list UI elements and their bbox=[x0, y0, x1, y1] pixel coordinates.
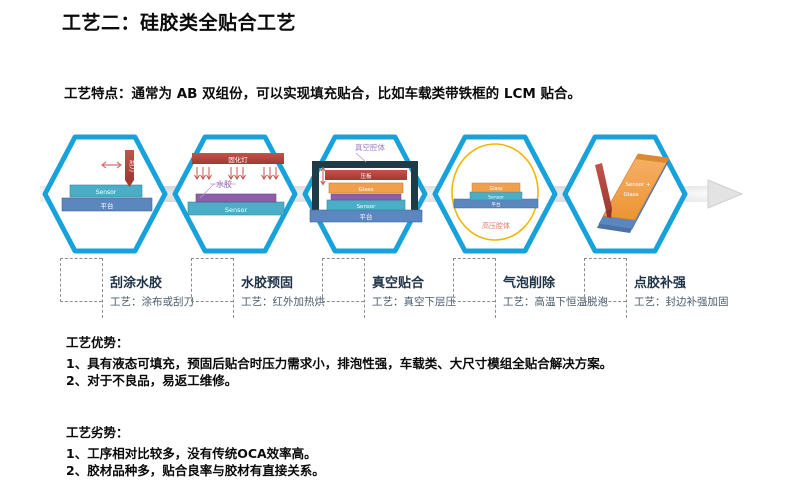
callout-dash-frame bbox=[453, 258, 495, 302]
advantages-line-1: 1、具有液态可填充，预固后贴合时压力需求小，排泡性强，车载类、大尺寸模组全贴合解… bbox=[66, 355, 612, 372]
label-press-plate: 压板 bbox=[360, 172, 372, 180]
label-panel-sensor: Sensor + bbox=[625, 182, 651, 188]
callout-dash-frame bbox=[584, 258, 626, 302]
advantages-block: 工艺优势： 1、具有液态可填充，预固后贴合时压力需求小，排泡性强，车载类、大尺寸… bbox=[66, 332, 612, 389]
callout-dash-frame bbox=[60, 258, 102, 302]
callout-subtitle: 工艺：真空下层压 bbox=[372, 294, 456, 309]
callout-title: 刮涂水胶 bbox=[110, 272, 162, 291]
label-sensor-1: Sensor bbox=[96, 189, 117, 196]
callout-dash-frame bbox=[322, 258, 364, 302]
callout-title: 水胶预固 bbox=[241, 272, 293, 291]
label-glass-4: Glass bbox=[490, 186, 503, 192]
callout-subtitle: 工艺：红外加热烘 bbox=[241, 294, 325, 309]
label-blade-1: 刮刀 bbox=[128, 160, 136, 172]
label-sensor-4: Sensor bbox=[488, 195, 504, 201]
label-curing-lamp: 固化灯 bbox=[228, 155, 248, 164]
callout-title: 真空贴合 bbox=[372, 272, 424, 291]
label-sensor-3: Sensor bbox=[357, 204, 377, 210]
callout-title: 点胶补强 bbox=[634, 272, 686, 291]
label-platform-4: 平台 bbox=[491, 201, 501, 208]
callout-dash-line bbox=[233, 258, 234, 318]
label-high-pressure-chamber: 高压腔体 bbox=[482, 221, 510, 230]
flow-step-2-glue-precure[interactable]: Sensor 固化灯 水胶 bbox=[175, 137, 295, 251]
callout-dash-line bbox=[626, 258, 627, 318]
flow-step-3-vacuum-bonding[interactable]: 平台 Sensor Glass 压板 真空腔体 bbox=[305, 137, 425, 251]
callout-subtitle: 工艺：封边补强加固 bbox=[634, 294, 729, 309]
label-glass-3: Glass bbox=[359, 187, 374, 193]
advantages-line-2: 2、对于不良品，易返工维修。 bbox=[66, 372, 612, 389]
label-platform-1: 平台 bbox=[101, 201, 114, 210]
slide-page: 工艺二：硅胶类全贴合工艺 工艺特点：通常为 AB 双组份，可以实现填充贴合，比如… bbox=[0, 0, 792, 502]
callout-subtitle: 工艺：涂布或刮刀 bbox=[110, 294, 194, 309]
label-sensor-2: Sensor bbox=[225, 206, 248, 214]
process-feature-subtitle: 工艺特点：通常为 AB 双组份，可以实现填充贴合，比如车载类带铁框的 LCM 贴… bbox=[64, 82, 581, 102]
callout-step-2[interactable]: 水胶预固 工艺：红外加热烘 bbox=[191, 258, 321, 318]
page-title: 工艺二：硅胶类全贴合工艺 bbox=[62, 8, 296, 35]
label-platform-3: 平台 bbox=[360, 212, 373, 221]
disadvantages-block: 工艺劣势： 1、工序相对比较多，没有传统OCA效率高。 2、胶材品种多，贴合良率… bbox=[66, 422, 325, 479]
callout-step-4[interactable]: 气泡削除 工艺：高温下恒温脱泡 bbox=[453, 258, 603, 318]
label-vacuum-chamber: 真空腔体 bbox=[355, 142, 385, 152]
disadvantages-heading: 工艺劣势： bbox=[66, 422, 325, 441]
callout-step-1[interactable]: 刮涂水胶 工艺：涂布或刮刀 bbox=[60, 258, 190, 318]
label-panel-glass: Glass bbox=[624, 192, 639, 198]
disadvantages-line-2: 2、胶材品种多，贴合良率与胶材有直接关系。 bbox=[66, 462, 325, 479]
callout-dash-line bbox=[102, 258, 103, 318]
flow-step-1-scrape-glue[interactable]: 平台 Sensor 刮刀 bbox=[45, 137, 165, 251]
callout-step-3[interactable]: 真空贴合 工艺：真空下层压 bbox=[322, 258, 452, 318]
callout-dash-line bbox=[495, 258, 496, 318]
process-step-callouts: 刮涂水胶 工艺：涂布或刮刀 水胶预固 工艺：红外加热烘 真空贴合 工艺：真空下层… bbox=[60, 258, 760, 320]
callout-dash-line bbox=[364, 258, 365, 318]
callout-step-5[interactable]: 点胶补强 工艺：封边补强加固 bbox=[584, 258, 744, 318]
flow-step-4-bubble-removal[interactable]: 平台 Sensor Glass 高压腔体 bbox=[435, 137, 555, 251]
advantages-heading: 工艺优势： bbox=[66, 332, 612, 351]
callout-title: 气泡削除 bbox=[503, 272, 555, 291]
disadvantages-line-1: 1、工序相对比较多，没有传统OCA效率高。 bbox=[66, 445, 325, 462]
flow-step-5-dispense-reinforce[interactable]: Sensor + Glass bbox=[565, 137, 685, 251]
callout-dash-frame bbox=[191, 258, 233, 302]
process-flow-diagram: 平台 Sensor 刮刀 Sensor bbox=[40, 132, 752, 262]
